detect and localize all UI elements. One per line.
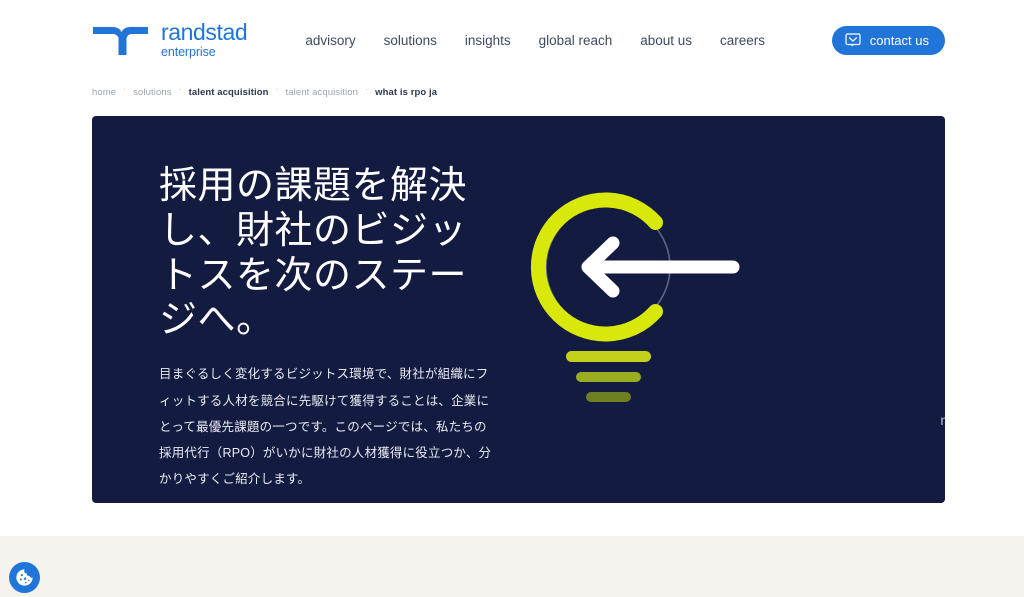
randstad-logo-mark-icon: [92, 25, 149, 55]
site-header: randstad enterprise advisory solutions i…: [0, 0, 1024, 80]
breadcrumb-separator: ·: [123, 85, 126, 94]
logo-brand-text: randstad: [161, 21, 247, 44]
cookie-settings-button[interactable]: [9, 562, 40, 593]
hero-text-block: 採用の課題を解決し、財社のビジットスを次のステージへ。 目まぐるしく変化するビジ…: [92, 116, 492, 503]
breadcrumb: home · solutions · talent acquisition · …: [0, 80, 1024, 104]
hero-illustration-area: n s: [492, 116, 945, 503]
logo-sub-text: enterprise: [161, 46, 247, 59]
breadcrumb-separator: ·: [276, 85, 279, 94]
breadcrumb-item-home[interactable]: home: [92, 87, 116, 98]
contact-us-button[interactable]: contact us: [832, 26, 945, 55]
nav-item-solutions[interactable]: solutions: [382, 29, 439, 52]
logo-wordmark: randstad enterprise: [161, 21, 247, 59]
breadcrumb-item-solutions[interactable]: solutions: [133, 87, 171, 98]
site-logo[interactable]: randstad enterprise: [92, 21, 247, 59]
cookie-icon: [15, 568, 34, 587]
nav-item-careers[interactable]: careers: [718, 29, 767, 52]
breadcrumb-separator: ·: [365, 85, 368, 94]
breadcrumb-item-talent-acquisition[interactable]: talent acquisition: [189, 87, 269, 98]
breadcrumb-separator: ·: [179, 85, 182, 94]
hero-section-wrapper: 採用の課題を解決し、財社のビジットスを次のステージへ。 目まぐるしく変化するビジ…: [0, 104, 1024, 503]
nav-item-insights[interactable]: insights: [463, 29, 513, 52]
message-bubble-icon: [845, 33, 861, 47]
nav-item-advisory[interactable]: advisory: [303, 29, 357, 52]
primary-navigation: advisory solutions insights global reach…: [303, 29, 767, 52]
hero-body-text: 目まぐるしく変化するビジットス環境で、財社が組織にフィットする人材を競合に先駆け…: [159, 361, 499, 492]
breadcrumb-item-talent-acquisition-2[interactable]: talent acquisition: [286, 87, 359, 98]
contact-us-label: contact us: [870, 33, 929, 48]
breadcrumb-item-what-is-rpo-ja: what is rpo ja: [375, 87, 437, 98]
nav-item-global-reach[interactable]: global reach: [537, 29, 615, 52]
hero-banner: 採用の課題を解決し、財社のビジットスを次のステージへ。 目まぐるしく変化するビジ…: [92, 116, 945, 503]
nav-item-about-us[interactable]: about us: [638, 29, 694, 52]
hero-title: 採用の課題を解決し、財社のビジットスを次のステージへ。: [159, 164, 489, 343]
lower-content-band: [0, 536, 1024, 597]
hero-overflow-text: n s: [940, 410, 945, 432]
